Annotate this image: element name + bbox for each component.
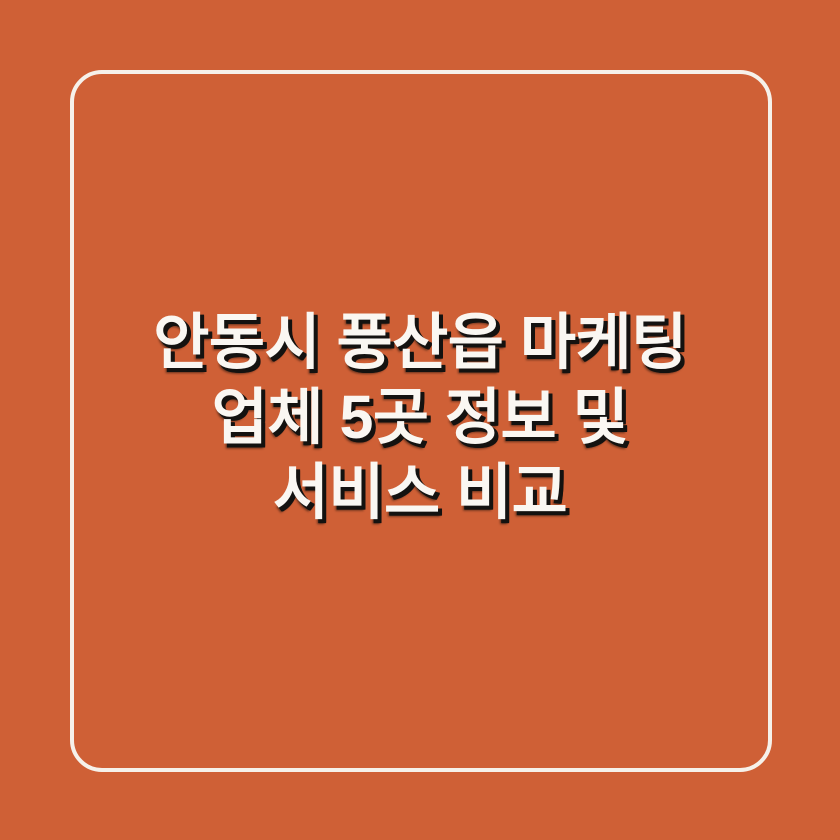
title-line-3: 서비스 비교 bbox=[100, 455, 740, 530]
title-line-2: 업체 5곳 정보 및 bbox=[100, 380, 740, 455]
thumbnail-card: 안동시 풍산읍 마케팅 업체 5곳 정보 및 서비스 비교 bbox=[0, 0, 840, 840]
page-title: 안동시 풍산읍 마케팅 업체 5곳 정보 및 서비스 비교 bbox=[100, 305, 740, 536]
title-line-1: 안동시 풍산읍 마케팅 bbox=[100, 305, 740, 380]
